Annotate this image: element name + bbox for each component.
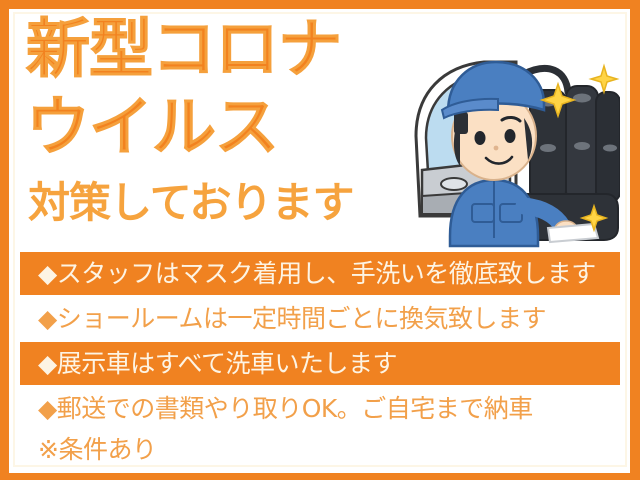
poster-border-right [630, 0, 640, 480]
headline-line-3: 対策しております [28, 182, 353, 224]
headline-line-2: ウイルス [26, 96, 278, 160]
conditions-note: ※条件あり [20, 430, 620, 468]
poster-border-bottom [0, 473, 640, 480]
list-item-label: ◆郵送での書類やり取りOK。ご自宅まで納車 [38, 396, 533, 421]
covid-countermeasure-poster: 新型コロナ ウイルス 対策しております [0, 0, 640, 480]
list-item: ◆郵送での書類やり取りOK。ご自宅まで納車 [20, 387, 620, 430]
headline-block: 新型コロナ ウイルス 対策しております [26, 14, 446, 239]
list-item-label: ◆ショールームは一定時間ごとに換気致します [38, 306, 546, 331]
list-item-label: ◆展示車はすべて洗車いたします [38, 351, 397, 376]
measures-list: ◆スタッフはマスク着用し、手洗いを徹底致します ◆ショールームは一定時間ごとに換… [20, 252, 620, 468]
list-item: ◆展示車はすべて洗車いたします [20, 342, 620, 385]
headline-line-1: 新型コロナ [26, 18, 341, 82]
poster-border-left [0, 0, 9, 480]
poster-border-top [0, 0, 640, 9]
list-item: ◆ショールームは一定時間ごとに換気致します [20, 297, 620, 340]
staff-cleaning-car-seat-illustration [398, 40, 620, 250]
list-item-label: ◆スタッフはマスク着用し、手洗いを徹底致します [38, 261, 596, 286]
list-item: ◆スタッフはマスク着用し、手洗いを徹底致します [20, 252, 620, 295]
